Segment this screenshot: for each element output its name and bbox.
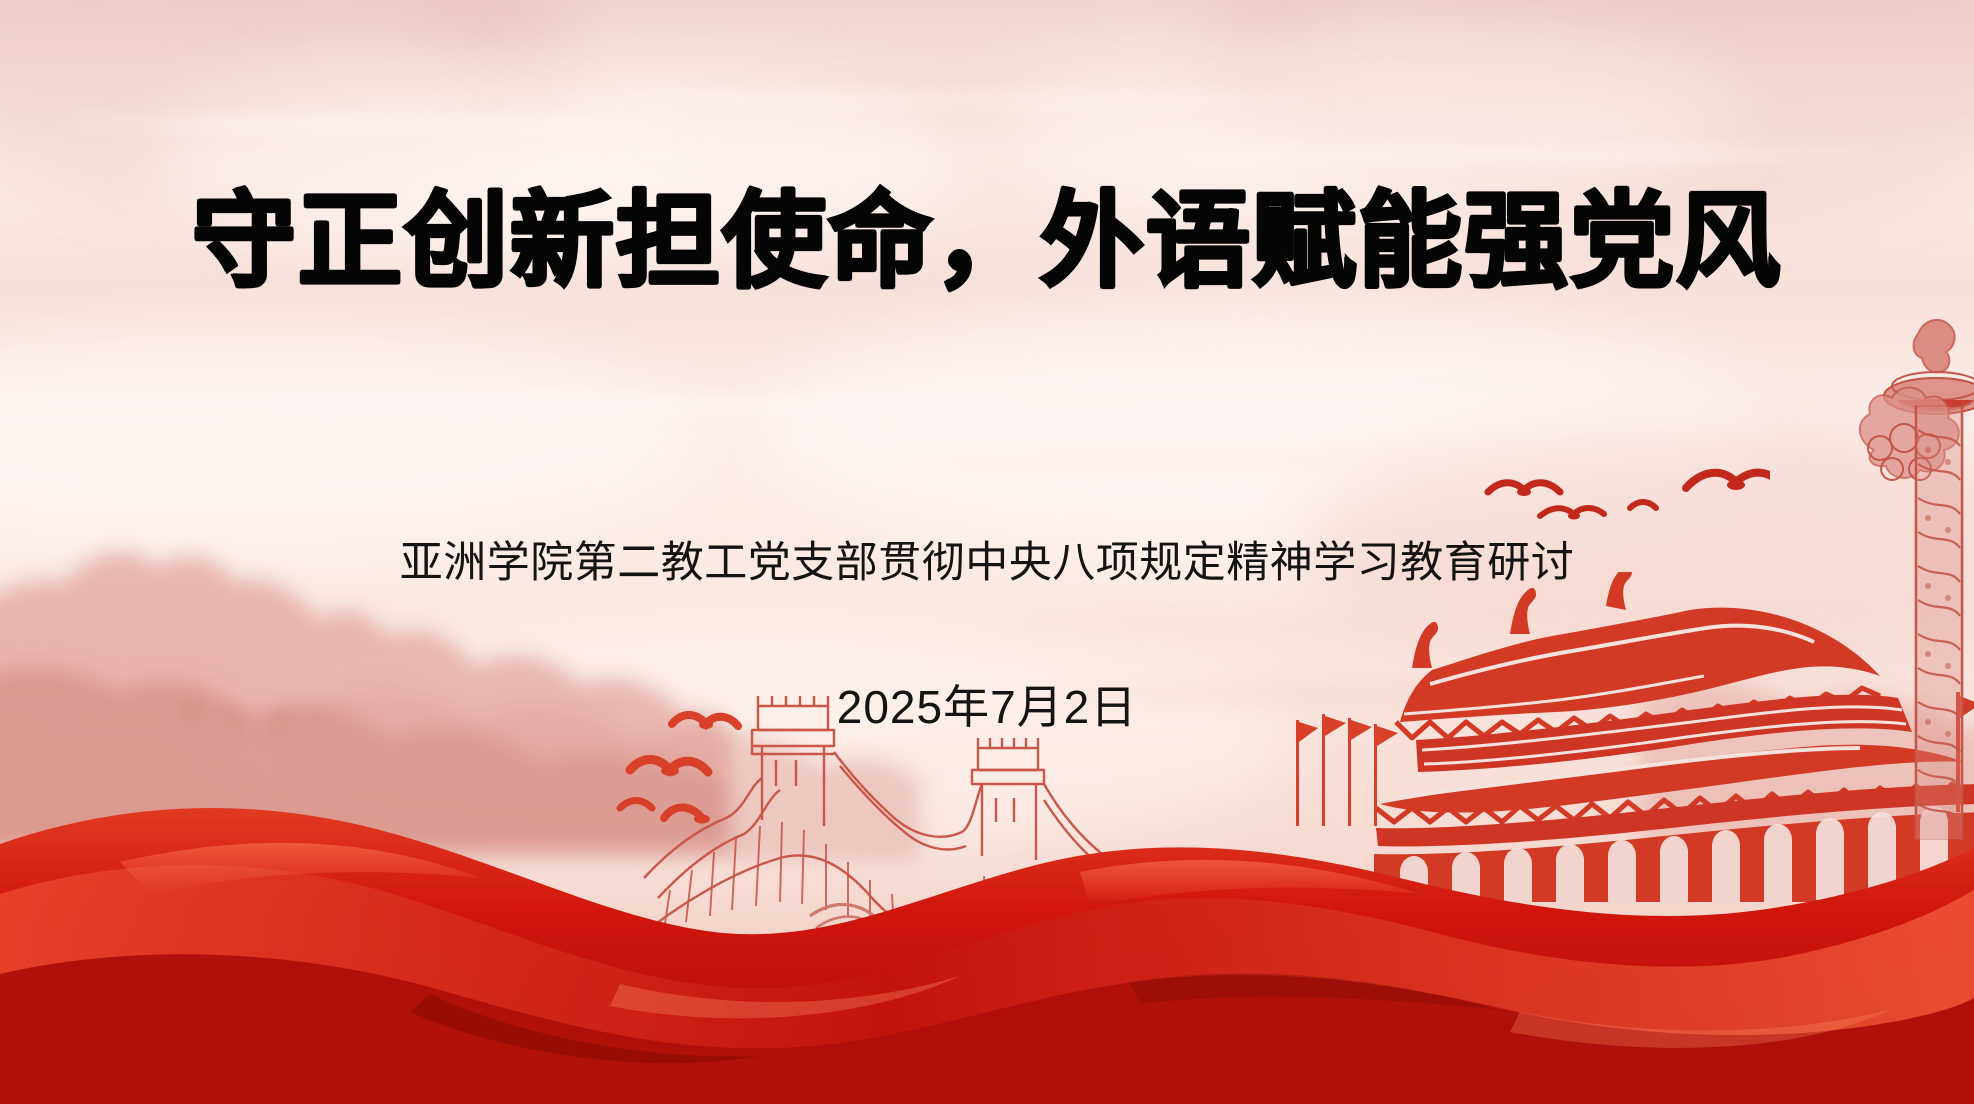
title-slide: 守正创新担使命，外语赋能强党风 亚洲学院第二教工党支部贯彻中央八项规定精神学习教… bbox=[0, 0, 1974, 1104]
red-silk-ribbon bbox=[0, 744, 1974, 1104]
slide-date: 2025年7月2日 bbox=[0, 678, 1974, 738]
slide-subtitle: 亚洲学院第二教工党支部贯彻中央八项规定精神学习教育研讨 bbox=[0, 536, 1974, 592]
slide-title: 守正创新担使命，外语赋能强党风 bbox=[0, 186, 1974, 296]
